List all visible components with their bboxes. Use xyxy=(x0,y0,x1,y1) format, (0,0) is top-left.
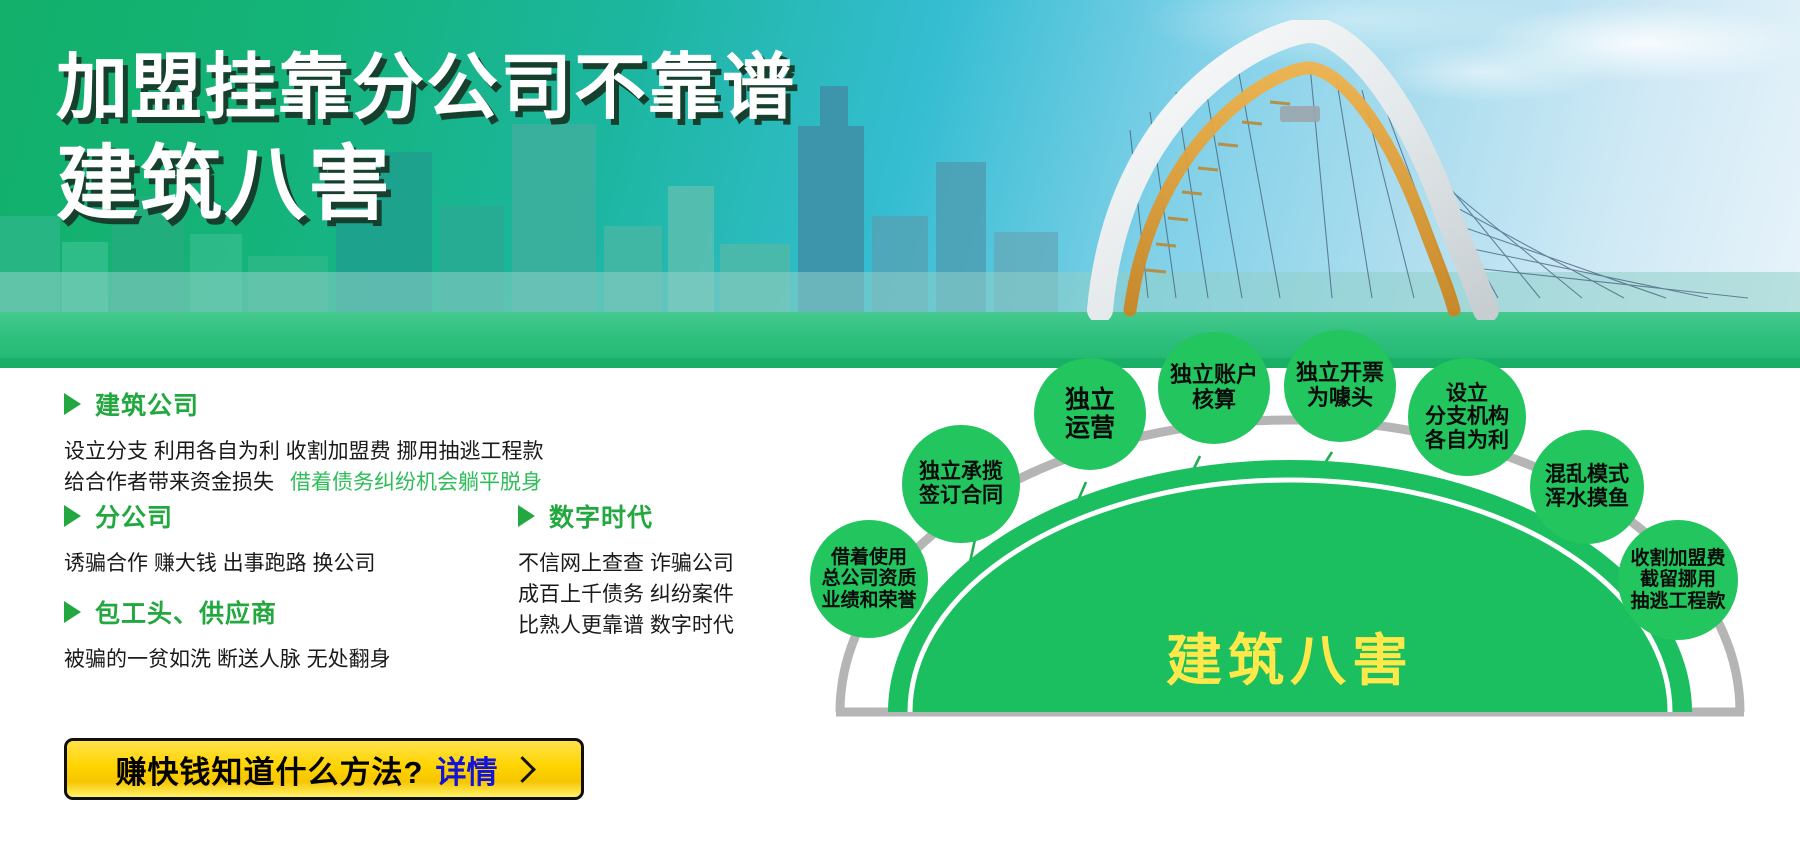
triangle-right-icon xyxy=(64,393,81,415)
bubble-label: 独立账户核算 xyxy=(1170,363,1258,412)
section-title: 数字时代 xyxy=(549,498,653,534)
triangle-right-icon xyxy=(64,601,81,623)
triangle-right-icon xyxy=(518,505,535,527)
section-header: 分公司 xyxy=(64,498,376,534)
section-construction-company: 建筑公司 设立分支 利用各自为利 收割加盟费 挪用抽逃工程款 给合作者带来资金损… xyxy=(64,386,544,498)
section-line: 比熟人更靠谱 数字时代 xyxy=(518,610,734,641)
section-branch-company: 分公司 诱骗合作 赚大钱 出事跑路 换公司 xyxy=(64,498,376,579)
section-contractor-supplier: 包工头、供应商 被骗的一贫如洗 断送人脉 无处翻身 xyxy=(64,594,391,675)
bubble-item[interactable]: 设立分支机构各自为利 xyxy=(1408,358,1526,476)
bubble-item[interactable]: 独立账户核算 xyxy=(1158,332,1270,444)
bubble-label: 收割加盟费截留挪用抽逃工程款 xyxy=(1630,548,1725,612)
section-title: 分公司 xyxy=(95,498,173,534)
cta-detail-link[interactable]: 详情 xyxy=(435,747,497,792)
bubble-diagram: 建筑八害 借着使用总公司资质业绩和荣誉 独立承揽签订合同 独立运营 独立账户核算… xyxy=(780,330,1800,844)
bubble-label: 独立开票为噱头 xyxy=(1296,361,1384,410)
section-title: 建筑公司 xyxy=(95,386,199,422)
bubble-item[interactable]: 独立开票为噱头 xyxy=(1284,330,1396,442)
bridge-illustration xyxy=(980,20,1800,320)
section-header: 建筑公司 xyxy=(64,386,544,422)
section-body: 设立分支 利用各自为利 收割加盟费 挪用抽逃工程款 给合作者带来资金损失借着债务… xyxy=(64,436,544,498)
bubble-label: 混乱模式浑水摸鱼 xyxy=(1545,463,1629,510)
bubble-label: 设立分支机构各自为利 xyxy=(1425,382,1509,453)
bubble-label: 独立运营 xyxy=(1065,386,1115,442)
section-line: 诱骗合作 赚大钱 出事跑路 换公司 xyxy=(64,548,376,579)
section-line: 设立分支 利用各自为利 收割加盟费 挪用抽逃工程款 xyxy=(64,436,544,467)
bubble-item[interactable]: 独立运营 xyxy=(1034,358,1146,470)
section-body: 诱骗合作 赚大钱 出事跑路 换公司 xyxy=(64,548,376,579)
section-body: 被骗的一贫如洗 断送人脉 无处翻身 xyxy=(64,644,391,675)
chevron-right-icon xyxy=(510,756,537,783)
section-line: 不信网上查查 诈骗公司 xyxy=(518,548,734,579)
section-header: 包工头、供应商 xyxy=(64,594,391,630)
section-title: 包工头、供应商 xyxy=(95,594,277,630)
section-body: 不信网上查查 诈骗公司 成百上千债务 纠纷案件 比熟人更靠谱 数字时代 xyxy=(518,548,734,641)
section-line: 给合作者带来资金损失借着债务纠纷机会躺平脱身 xyxy=(64,467,544,498)
cta-button[interactable]: 赚快钱知道什么方法? 详情 xyxy=(64,738,584,800)
bubble-item[interactable]: 收割加盟费截留挪用抽逃工程款 xyxy=(1618,520,1738,640)
hero-title-line1: 加盟挂靠分公司不靠谱 xyxy=(56,52,796,124)
hero-banner: 加盟挂靠分公司不靠谱 建筑八害 xyxy=(0,0,1800,368)
triangle-right-icon xyxy=(64,505,81,527)
hero-titles: 加盟挂靠分公司不靠谱 建筑八害 xyxy=(56,52,796,226)
poster-root: 加盟挂靠分公司不靠谱 建筑八害 建筑公司 设立分支 利用各自为利 收割加盟费 挪… xyxy=(0,0,1800,844)
hero-title-line2: 建筑八害 xyxy=(56,144,796,226)
bubble-item[interactable]: 借着使用总公司资质业绩和荣誉 xyxy=(810,520,928,638)
section-digital-era: 数字时代 不信网上查查 诈骗公司 成百上千债务 纠纷案件 比熟人更靠谱 数字时代 xyxy=(518,498,734,641)
section-header: 数字时代 xyxy=(518,498,734,534)
bubble-item[interactable]: 混乱模式浑水摸鱼 xyxy=(1530,430,1644,544)
cta-label: 赚快钱知道什么方法? xyxy=(116,747,424,792)
section-line: 成百上千债务 纠纷案件 xyxy=(518,579,734,610)
section-line: 被骗的一贫如洗 断送人脉 无处翻身 xyxy=(64,644,391,675)
bubble-label: 独立承揽签订合同 xyxy=(919,460,1003,507)
bubble-item[interactable]: 独立承揽签订合同 xyxy=(902,425,1020,543)
bubble-label: 借着使用总公司资质业绩和荣誉 xyxy=(821,547,916,611)
